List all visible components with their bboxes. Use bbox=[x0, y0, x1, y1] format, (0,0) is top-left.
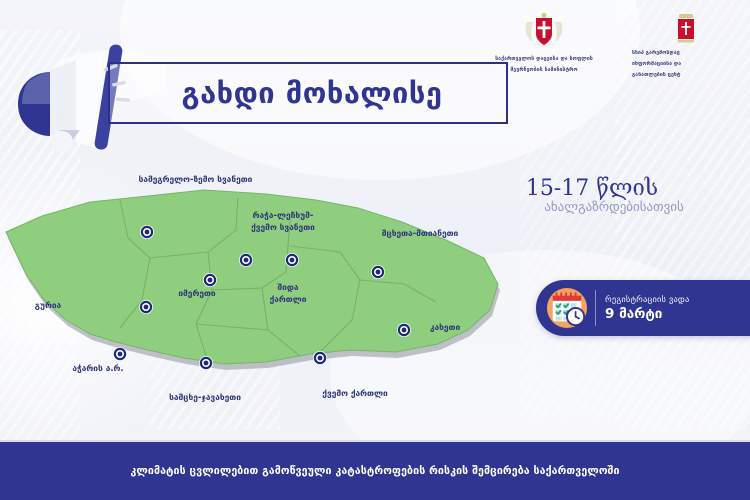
footer-banner: კლიმატის ცვლილებით გამოწვეული კატასტროფე… bbox=[0, 442, 750, 500]
marker-kvemo-kartli[interactable] bbox=[313, 351, 327, 365]
marker-guria[interactable] bbox=[139, 300, 153, 314]
footer-text: კლიმატის ცვლილებით გამოწვეული კატასტროფე… bbox=[130, 465, 619, 477]
age-audience-text: ახალგაზრდებისათვის bbox=[464, 200, 750, 215]
deadline-divider bbox=[595, 290, 596, 326]
map-label-kakheti: კახეთი bbox=[415, 322, 475, 333]
background-stripes-right-2 bbox=[520, 120, 630, 420]
map-label-adjara: აჭარის ა.რ. bbox=[58, 363, 138, 374]
deadline-label: რეგისტრაციის ვადა bbox=[605, 294, 689, 304]
map-label-racha-lechkhumi: რაჭა-ლეჩხუმ- bbox=[228, 210, 338, 221]
age-range-text: 15-17 წლის bbox=[442, 176, 742, 201]
marker-kakheti[interactable] bbox=[397, 323, 411, 337]
deadline-text-group: რეგისტრაციის ვადა 9 მარტი bbox=[605, 294, 689, 322]
marker-samtskhe[interactable] bbox=[199, 356, 213, 370]
poster-canvas: გახდი მოხალისე საქართველოს დაცვისა და სო… bbox=[0, 0, 750, 500]
map-label-samtskhe-javakheti: სამცხე-ჯავახეთი bbox=[145, 392, 265, 403]
map-label-guria: გურია bbox=[18, 300, 78, 311]
agency-caption-line3: განათლების ცენტ bbox=[632, 72, 740, 79]
marker-shida-kartli[interactable] bbox=[285, 253, 299, 267]
calendar-clock-icon bbox=[546, 287, 588, 329]
registration-deadline-badge[interactable]: რეგისტრაციის ვადა 9 მარტი bbox=[536, 280, 750, 336]
marker-racha[interactable] bbox=[239, 253, 253, 267]
logo-ministry: საქართველოს დაცვისა და სოფლის მეურნეობის… bbox=[490, 12, 598, 79]
marker-mtskheta[interactable] bbox=[371, 265, 385, 279]
map-label-mtskheta-mtianeti: მცხეთა-მთიანეთი bbox=[355, 228, 485, 239]
logo-agency: სსიპ გარემოსდაც ინფორმაციისა და განათლებ… bbox=[632, 12, 740, 79]
logo-group: საქართველოს დაცვისა და სოფლის მეურნეობის… bbox=[490, 12, 740, 79]
map-label-samegrelo-zemo-svaneti: სამეგრელო-ზემო სვანეთი bbox=[108, 174, 283, 185]
map-label-kvemo-kartli: ქვემო ქართლი bbox=[305, 388, 405, 399]
ministry-emblem-icon bbox=[522, 12, 566, 48]
ministry-caption-line1: საქართველოს დაცვისა და სოფლის bbox=[490, 56, 598, 63]
poster-header: გახდი მოხალისე საქართველოს დაცვისა და სო… bbox=[0, 0, 750, 160]
deadline-date: 9 მარტი bbox=[605, 306, 689, 322]
agency-caption-line2: ინფორმაციისა და bbox=[632, 61, 740, 68]
marker-imereti[interactable] bbox=[203, 273, 217, 287]
map-label-imereti: იმერეთი bbox=[162, 288, 232, 299]
map-label-racha-lechkhumi-2: ქვემო სვანეთი bbox=[228, 222, 338, 233]
map-label-shida-kartli-2: ქართლი bbox=[258, 294, 318, 305]
marker-adjara[interactable] bbox=[113, 347, 127, 361]
map-label-shida-kartli: შიდა bbox=[258, 282, 318, 293]
agency-caption-line1: სსიპ გარემოსდაც bbox=[632, 50, 740, 57]
agency-emblem-icon bbox=[675, 12, 697, 46]
ministry-caption-line2: მეურნეობის სამინისტრო bbox=[490, 67, 598, 74]
marker-samegrelo[interactable] bbox=[140, 225, 154, 239]
page-title: გახდი მოხალისე bbox=[132, 68, 492, 118]
